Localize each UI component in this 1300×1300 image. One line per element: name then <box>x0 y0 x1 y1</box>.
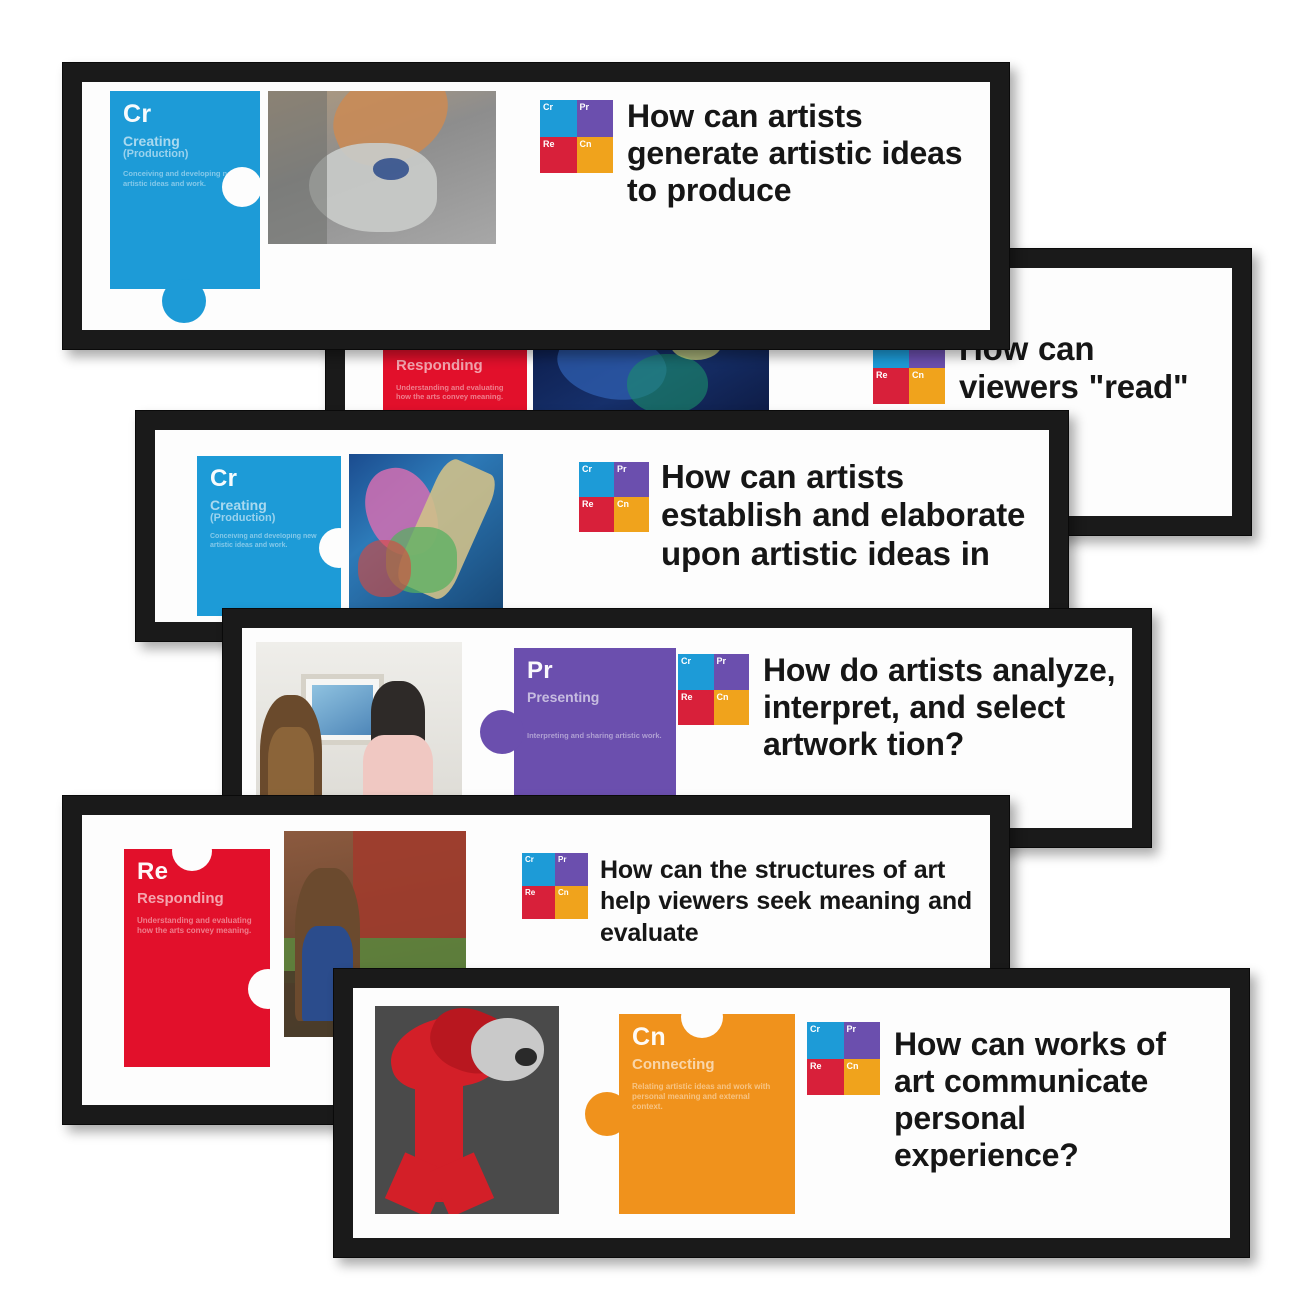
quad-cell-pr: Pr <box>555 853 588 886</box>
essential-question: How can artists generate artistic ideas … <box>627 96 990 330</box>
quad-cell-pr: Pr <box>577 100 614 137</box>
puzzle-name: Presenting <box>527 690 663 705</box>
puzzle-piece-creating: Cr Creating (Production) Conceiving and … <box>155 430 341 622</box>
quad-cell-cr: Cr <box>540 100 577 137</box>
quad-cell-re: Re <box>579 497 614 532</box>
essential-question: How can works of art communicate persona… <box>894 1024 1230 1238</box>
essential-question: How can artists establish and elaborate … <box>661 456 1049 622</box>
card-photo <box>268 91 496 244</box>
card-content: Cr Creating (Production) Conceiving and … <box>155 430 1049 622</box>
four-quadrant-standards-icon: Cr Pr Re Cn <box>678 654 749 725</box>
puzzle-subtitle: (Production) <box>210 513 328 525</box>
puzzle-subtitle: (Production) <box>123 149 247 161</box>
puzzle-socket-right-icon <box>248 969 288 1009</box>
quad-cell-cn: Cn <box>714 690 750 726</box>
card-content: Cr Creating (Production) Conceiving and … <box>82 82 990 330</box>
puzzle-name: Creating <box>123 134 247 149</box>
card-photo <box>349 454 503 620</box>
four-quadrant-standards-icon: Cr Pr Re Cn <box>807 1022 880 1095</box>
card-photo <box>256 642 462 820</box>
quad-cell-cn: Cn <box>577 137 614 174</box>
puzzle-piece-connecting: Cn Connecting Relating artistic ideas an… <box>559 988 807 1238</box>
standards-cards-collage: Cr Creating (Production) Conceiving and … <box>0 0 1300 1300</box>
quad-cell-cn: Cn <box>614 497 649 532</box>
puzzle-name: Responding <box>396 358 514 374</box>
quad-cell-re: Re <box>873 368 909 404</box>
layout-spacer <box>496 82 540 330</box>
quad-cell-cn: Cn <box>844 1059 881 1096</box>
puzzle-knob-icon <box>480 710 524 754</box>
puzzle-name: Responding <box>137 891 257 907</box>
puzzle-knob-icon <box>162 279 206 323</box>
puzzle-name: Connecting <box>632 1057 782 1073</box>
puzzle-abbr: Cr <box>123 102 247 127</box>
puzzle-socket-icon <box>222 167 262 207</box>
quad-cell-pr: Pr <box>714 654 750 690</box>
puzzle-description: Conceiving and developing new artistic i… <box>210 533 328 551</box>
quad-cell-pr: Pr <box>614 462 649 497</box>
quad-cell-cr: Cr <box>807 1022 844 1059</box>
puzzle-description: Understanding and evaluating how the art… <box>137 916 257 936</box>
quad-cell-re: Re <box>540 137 577 174</box>
quad-cell-cr: Cr <box>579 462 614 497</box>
puzzle-description: Understanding and evaluating how the art… <box>396 383 514 402</box>
quad-cell-re: Re <box>522 886 555 919</box>
four-quadrant-standards-icon: Cr Pr Re Cn <box>522 853 588 919</box>
puzzle-description: Relating artistic ideas and work with pe… <box>632 1082 782 1112</box>
card-photo <box>375 1006 559 1214</box>
quad-cell-cn: Cn <box>909 368 945 404</box>
puzzle-name: Creating <box>210 498 328 513</box>
puzzle-socket-top-icon <box>172 831 212 871</box>
puzzle-piece-responding: Re Responding Understanding and evaluati… <box>82 815 278 1105</box>
quad-cell-pr: Pr <box>844 1022 881 1059</box>
quad-cell-cn: Cn <box>555 886 588 919</box>
puzzle-knob-icon <box>585 1092 629 1136</box>
standards-card-creating-generate[interactable]: Cr Creating (Production) Conceiving and … <box>62 62 1010 350</box>
standards-card-connecting-communicate[interactable]: Cn Connecting Relating artistic ideas an… <box>333 968 1250 1258</box>
puzzle-piece-creating: Cr Creating (Production) Conceiving and … <box>82 82 260 330</box>
puzzle-socket-top-icon <box>681 996 723 1038</box>
layout-spacer <box>503 430 579 622</box>
quad-cell-re: Re <box>678 690 714 726</box>
puzzle-description: Interpreting and sharing artistic work. <box>527 731 663 740</box>
four-quadrant-standards-icon: Cr Pr Re Cn <box>540 100 613 173</box>
card-content: Cn Connecting Relating artistic ideas an… <box>353 988 1230 1238</box>
four-quadrant-standards-icon: Cr Pr Re Cn <box>579 462 649 532</box>
puzzle-abbr: Pr <box>527 659 663 683</box>
quad-cell-cr: Cr <box>678 654 714 690</box>
quad-cell-re: Re <box>807 1059 844 1096</box>
quad-cell-cr: Cr <box>522 853 555 886</box>
puzzle-abbr: Cr <box>210 467 328 491</box>
